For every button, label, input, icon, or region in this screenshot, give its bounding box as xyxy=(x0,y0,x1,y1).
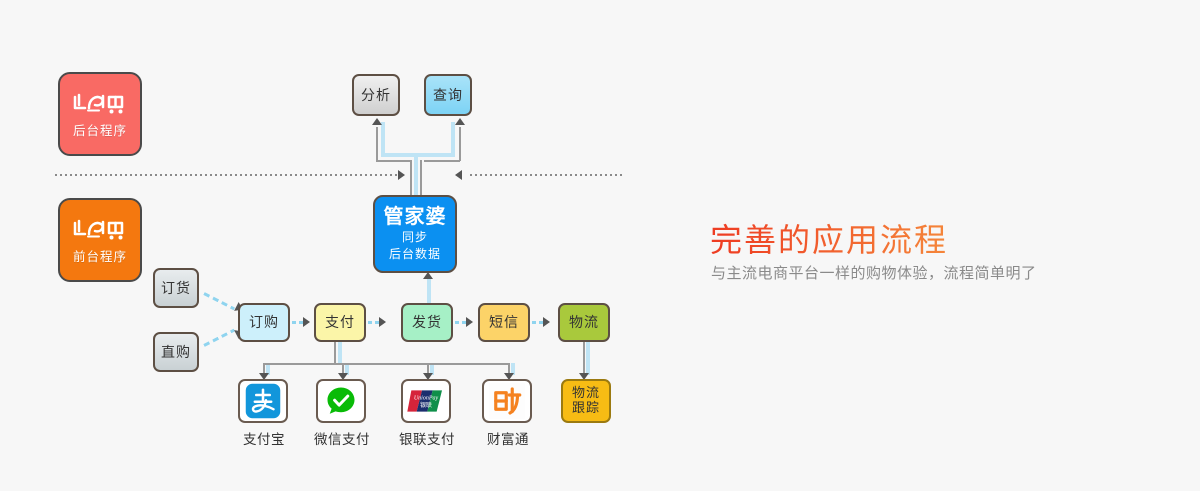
connector-sms-logistics xyxy=(532,321,543,324)
arrow-to-query-icon xyxy=(455,118,465,125)
payment-tile-alipay[interactable] xyxy=(238,379,288,423)
payment-tile-tenpay[interactable] xyxy=(482,379,532,423)
arrow-purchase-payment-icon xyxy=(303,317,310,327)
node-direct-buy[interactable]: 直购 xyxy=(153,332,199,372)
node-sms[interactable]: 短信 xyxy=(478,303,530,342)
node-shipping[interactable]: 发货 xyxy=(401,303,453,342)
hub-line1: 同步 xyxy=(402,230,428,245)
guanjiapo-logo-icon xyxy=(70,90,130,116)
divider-arrow-right-icon xyxy=(398,170,405,180)
arrow-sms-logistics-icon xyxy=(543,317,550,327)
arrow-shipping-sms-icon xyxy=(466,317,473,327)
brand-tile-label: 前台程序 xyxy=(73,246,127,265)
payment-tile-unionpay[interactable]: UnionPay 银联 xyxy=(401,379,451,423)
payment-bus-line xyxy=(263,363,509,365)
node-analysis-label: 分析 xyxy=(361,87,391,103)
payment-label-tenpay: 财富通 xyxy=(465,428,551,448)
node-logistics-tracking[interactable]: 物流 跟踪 xyxy=(561,379,611,423)
fork-leg-right xyxy=(459,127,461,161)
page-subline: 与主流电商平台一样的购物体验，流程简单明了 xyxy=(711,262,1037,283)
node-order-request-label: 订货 xyxy=(161,280,191,296)
node-purchase[interactable]: 订购 xyxy=(238,303,290,342)
fork-stem-highlight xyxy=(414,153,418,195)
logistics-drop-highlight xyxy=(586,342,590,375)
tenpay-icon xyxy=(488,383,526,419)
connector-shipping-sms xyxy=(455,321,466,324)
fork-bar-right xyxy=(424,160,460,162)
fork-bar-highlight xyxy=(381,153,455,157)
node-order-request[interactable]: 订货 xyxy=(153,268,199,308)
divider-left xyxy=(55,174,400,176)
node-logistics-tracking-line2: 跟踪 xyxy=(572,401,600,416)
arrow-to-analysis-icon xyxy=(372,118,382,125)
svg-text:UnionPay: UnionPay xyxy=(414,396,439,402)
flow-diagram-illustration: 后台程序 前台程序 分析 查询 xyxy=(0,0,1200,491)
wechat-pay-icon xyxy=(323,383,359,419)
unionpay-icon: UnionPay 银联 xyxy=(406,387,446,415)
brand-tile-frontend-program: 前台程序 xyxy=(58,198,142,282)
guanjiapo-logo-icon xyxy=(70,216,130,242)
hub-title: 管家婆 xyxy=(384,207,447,228)
payment-label-unionpay: 银联支付 xyxy=(384,428,470,448)
arrow-direct-buy-to-purchase xyxy=(203,329,235,347)
ship-to-hub-highlight xyxy=(427,278,431,304)
payment-drop-line xyxy=(334,342,336,364)
brand-tile-backend-program: 后台程序 xyxy=(58,72,142,156)
payment-drop-highlight xyxy=(338,342,342,364)
fork-left-highlight xyxy=(381,122,385,155)
logistics-drop-line xyxy=(583,342,585,375)
connector-payment-shipping xyxy=(368,321,379,324)
node-query[interactable]: 查询 xyxy=(424,74,472,116)
node-payment[interactable]: 支付 xyxy=(314,303,366,342)
fork-stem-left xyxy=(410,160,412,196)
node-payment-label: 支付 xyxy=(325,314,355,330)
arrow-payment-shipping-icon xyxy=(379,317,386,327)
arrow-ship-to-hub-icon xyxy=(423,272,433,279)
divider-right xyxy=(470,174,622,176)
fork-right-highlight xyxy=(451,122,455,155)
node-direct-buy-label: 直购 xyxy=(161,344,191,360)
fork-stem-right xyxy=(420,160,422,196)
node-logistics-label: 物流 xyxy=(569,314,599,330)
alipay-icon xyxy=(245,383,281,419)
node-shipping-label: 发货 xyxy=(412,314,442,330)
brand-tile-label: 后台程序 xyxy=(73,120,127,139)
divider-arrow-left-icon xyxy=(455,170,462,180)
payment-tile-wechat-pay[interactable] xyxy=(316,379,366,423)
fork-bar-left xyxy=(376,160,412,162)
connector-purchase-payment xyxy=(292,321,303,324)
payment-label-alipay: 支付宝 xyxy=(221,428,307,448)
hub-line2: 后台数据 xyxy=(389,247,441,262)
hub-guanjiapo-sync[interactable]: 管家婆 同步 后台数据 xyxy=(373,195,457,273)
node-logistics[interactable]: 物流 xyxy=(558,303,610,342)
node-query-label: 查询 xyxy=(433,87,463,103)
page-headline: 完善的应用流程 xyxy=(710,215,948,261)
payment-label-wechat-pay: 微信支付 xyxy=(299,428,385,448)
fork-leg-left xyxy=(376,127,378,161)
node-sms-label: 短信 xyxy=(489,314,519,330)
node-logistics-tracking-line1: 物流 xyxy=(572,386,600,401)
arrow-order-request-to-purchase xyxy=(203,292,235,310)
node-analysis[interactable]: 分析 xyxy=(352,74,400,116)
node-purchase-label: 订购 xyxy=(249,314,279,330)
